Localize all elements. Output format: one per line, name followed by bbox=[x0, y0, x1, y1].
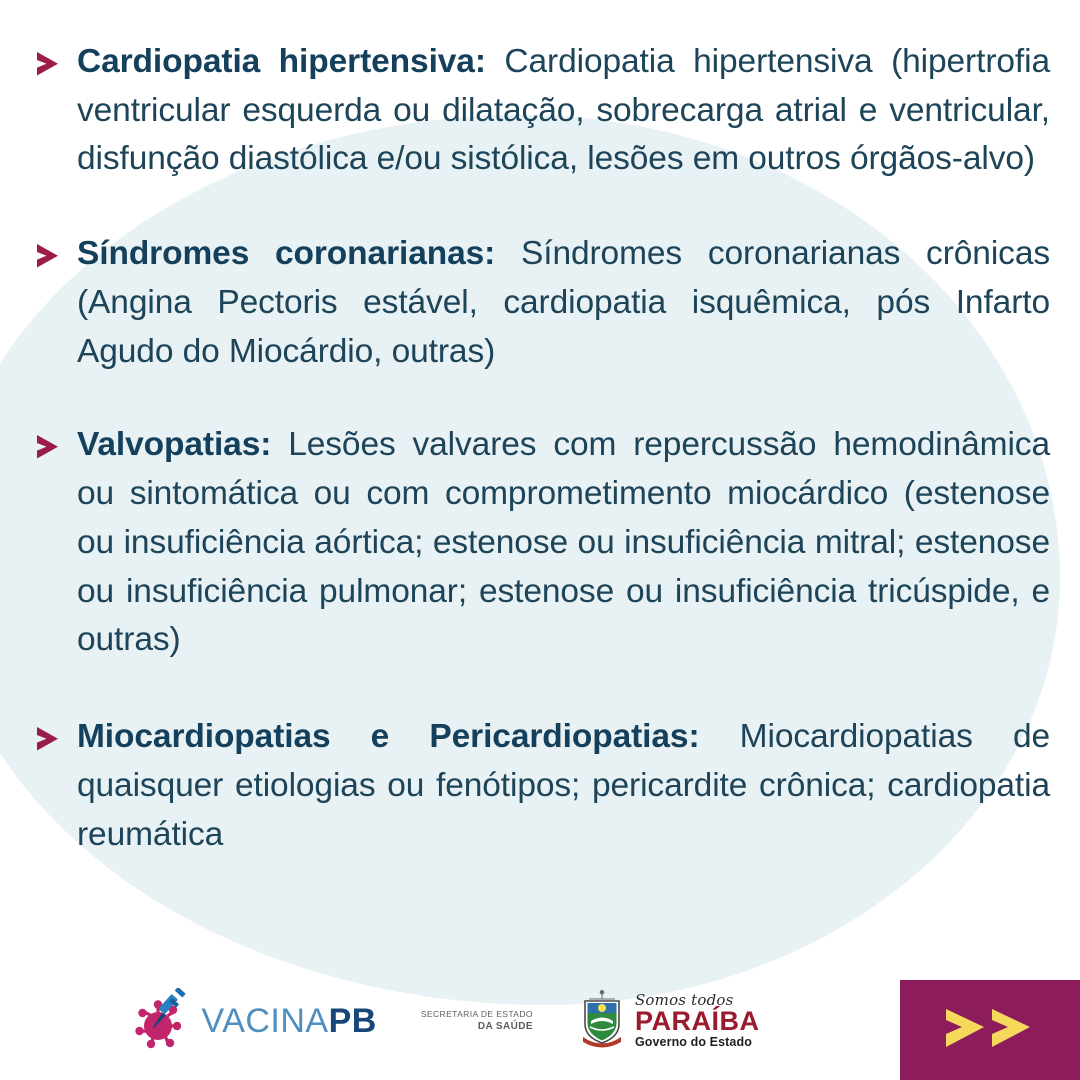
list-item-lead: Valvopatias: bbox=[77, 426, 271, 463]
chevron-right-icon bbox=[32, 723, 64, 755]
vacinapb-word-bold: PB bbox=[329, 1002, 377, 1040]
list-item-text: Cardiopatia hipertensiva: Cardiopatia hi… bbox=[77, 38, 1050, 184]
chevron-right-icon bbox=[32, 240, 64, 272]
slide-canvas: Cardiopatia hipertensiva: Cardiopatia hi… bbox=[0, 0, 1080, 1080]
double-chevron-right-icon bbox=[942, 1004, 1038, 1057]
vacinapb-word-light: VACINA bbox=[202, 1002, 329, 1040]
list-item-lead: Cardiopatia hipertensiva: bbox=[77, 43, 486, 80]
list-item-text: Síndromes coronarianas: Síndromes corona… bbox=[77, 230, 1050, 376]
next-slide-button[interactable] bbox=[900, 980, 1080, 1080]
bullet-list: Cardiopatia hipertensiva: Cardiopatia hi… bbox=[30, 38, 1050, 859]
list-item-lead: Miocardiopatias e Pericardiopatias: bbox=[77, 718, 700, 755]
secretaria-line1: SECRETARIA DE ESTADO bbox=[421, 1009, 533, 1020]
list-item-lead: Síndromes coronarianas: bbox=[77, 235, 495, 272]
footer: VACINAPB SECRETARIA DE ESTADO DA SAÚDE bbox=[0, 962, 1080, 1080]
chevron-right-icon bbox=[32, 48, 64, 80]
list-item: Síndromes coronarianas: Síndromes corona… bbox=[30, 230, 1050, 376]
chevron-right-icon bbox=[32, 431, 64, 463]
paraiba-coat-of-arms-icon bbox=[577, 990, 627, 1053]
list-item: Valvopatias: Lesões valvares com repercu… bbox=[30, 421, 1050, 665]
paraiba-wordmark: Somos todos PARAÍBA Governo do Estado bbox=[635, 993, 760, 1048]
list-item: Cardiopatia hipertensiva: Cardiopatia hi… bbox=[30, 38, 1050, 184]
secretaria-saude-logo: SECRETARIA DE ESTADO DA SAÚDE bbox=[421, 1009, 533, 1034]
secretaria-line2: DA SAÚDE bbox=[478, 1020, 533, 1034]
paraiba-government-logo: Somos todos PARAÍBA Governo do Estado bbox=[577, 990, 760, 1053]
content-area: Cardiopatia hipertensiva: Cardiopatia hi… bbox=[0, 0, 1080, 1080]
footer-logos: VACINAPB SECRETARIA DE ESTADO DA SAÚDE bbox=[0, 962, 890, 1080]
virus-syringe-icon bbox=[131, 988, 193, 1055]
paraiba-title: PARAÍBA bbox=[635, 1009, 760, 1035]
vacinapb-logo: VACINAPB bbox=[131, 988, 377, 1055]
list-item-text: Valvopatias: Lesões valvares com repercu… bbox=[77, 421, 1050, 665]
list-item-text: Miocardiopatias e Pericardiopatias: Mioc… bbox=[77, 713, 1050, 859]
vacinapb-wordmark: VACINAPB bbox=[202, 1004, 377, 1038]
list-item: Miocardiopatias e Pericardiopatias: Mioc… bbox=[30, 713, 1050, 859]
paraiba-subtitle: Governo do Estado bbox=[635, 1036, 752, 1049]
